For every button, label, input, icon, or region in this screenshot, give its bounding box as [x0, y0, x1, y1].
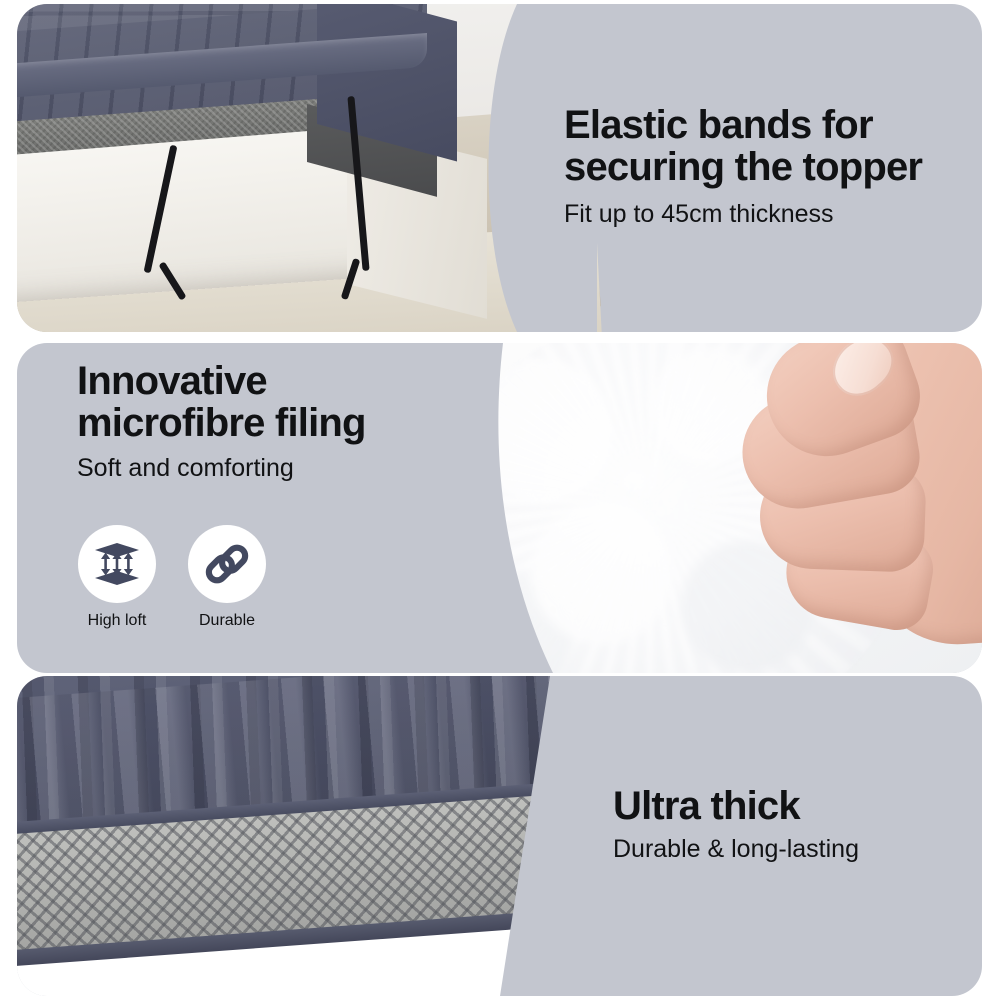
- hand: [712, 343, 982, 663]
- panel-2-subheading: Soft and comforting: [77, 454, 477, 483]
- panel-ultra-thick: Ultra thick Durable & long-lasting: [17, 676, 982, 996]
- panel-microfibre-filling: Innovative microfibre filing Soft and co…: [17, 343, 982, 673]
- photo-ultra-thick: [17, 676, 577, 996]
- feature-badge-label: Durable: [199, 612, 255, 630]
- feature-badge-list: High loft Durable: [78, 525, 266, 630]
- product-feature-graphic: Elastic bands for securing the topper Fi…: [0, 0, 1000, 1000]
- panel-2-heading-line-1: Innovative: [77, 360, 477, 402]
- panel-1-heading-line-1: Elastic bands for: [564, 104, 982, 146]
- panel-1-subheading: Fit up to 45cm thickness: [564, 200, 982, 229]
- badge-circle: [188, 525, 266, 603]
- panel-2-text: Innovative microfibre filing Soft and co…: [77, 360, 477, 483]
- feature-badge-high-loft: High loft: [78, 525, 156, 630]
- feature-badge-label: High loft: [88, 612, 147, 630]
- panel-2-heading-line-2: microfibre filing: [77, 402, 477, 444]
- fingernail: [822, 343, 904, 407]
- panel-elastic-bands: Elastic bands for securing the topper Fi…: [17, 4, 982, 332]
- photo-microfibre-filling: [457, 343, 982, 673]
- panel-1-heading-line-2: securing the topper: [564, 146, 982, 188]
- badge-circle: [78, 525, 156, 603]
- feature-badge-durable: Durable: [188, 525, 266, 630]
- panel-3-heading-line-1: Ultra thick: [613, 785, 953, 827]
- chain-link-icon: [204, 541, 250, 587]
- panel-3-subheading: Durable & long-lasting: [613, 835, 953, 864]
- panel-3-text: Ultra thick Durable & long-lasting: [613, 785, 953, 864]
- panel-1-text: Elastic bands for securing the topper Fi…: [564, 104, 982, 229]
- high-loft-icon: [93, 540, 141, 588]
- photo-elastic-bands: [17, 4, 537, 332]
